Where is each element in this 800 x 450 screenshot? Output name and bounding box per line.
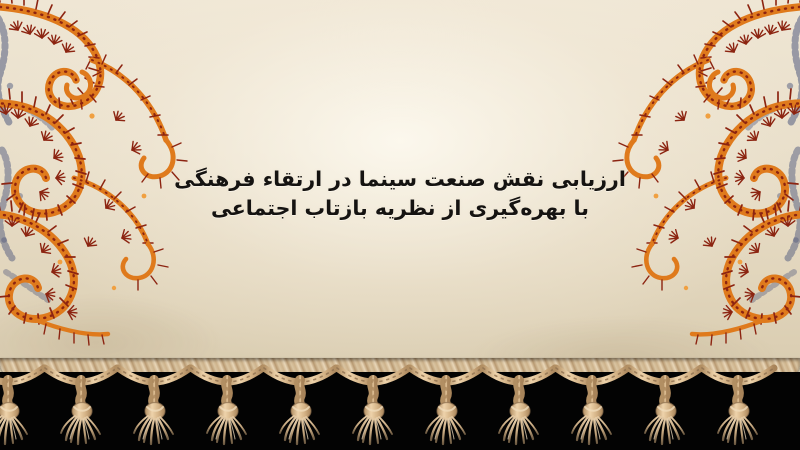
title-line-2: با بهره‌گیری از نظریه بازتاب اجتماعی	[0, 195, 800, 222]
braided-rope-hem	[0, 358, 800, 372]
title-line-1: ارزیابی نقش صنعت سینما در ارتقاء فرهنگی	[0, 166, 800, 193]
title-block: ارزیابی نقش صنعت سینما در ارتقاء فرهنگی …	[0, 166, 800, 223]
title-card-stage: ارزیابی نقش صنعت سینما در ارتقاء فرهنگی …	[0, 0, 800, 450]
